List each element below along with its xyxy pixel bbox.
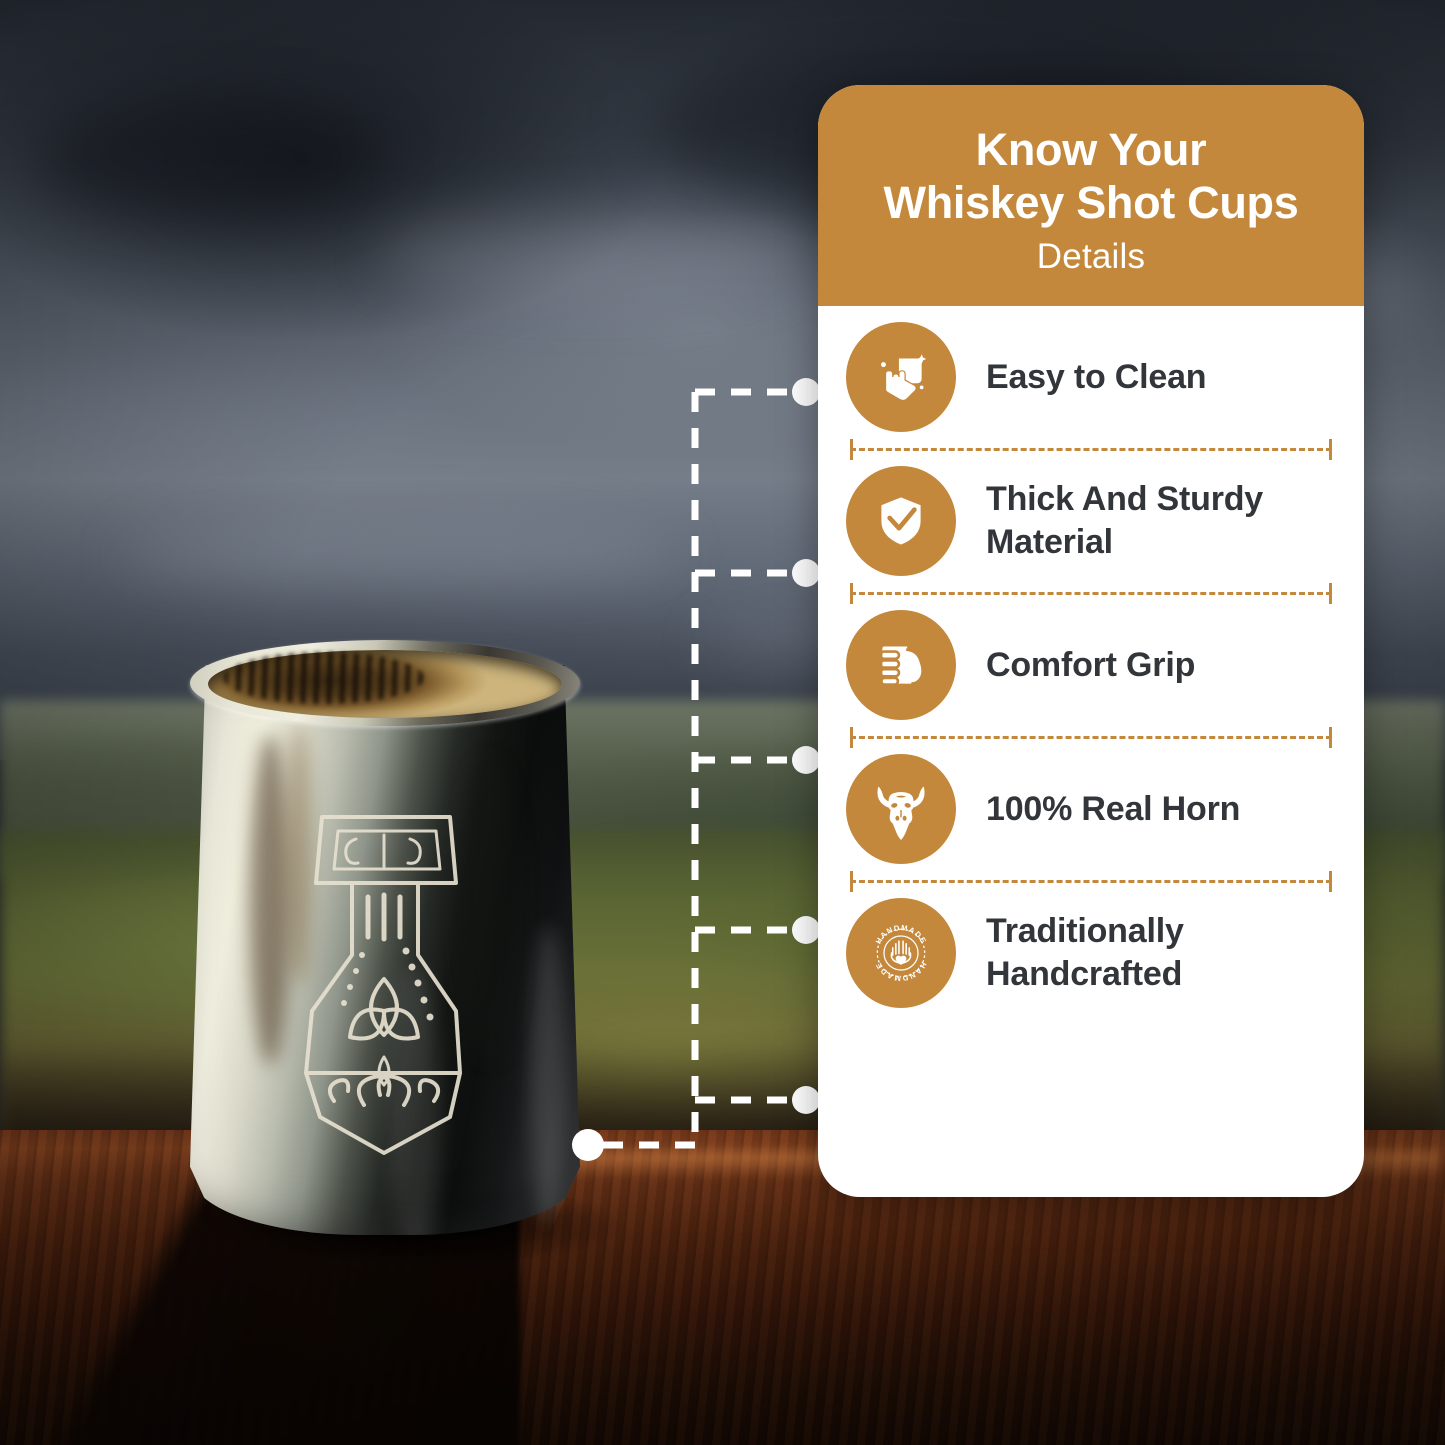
divider-cap-left xyxy=(850,727,853,748)
details-card: Know Your Whiskey Shot Cups Details Easy… xyxy=(818,85,1364,1197)
feature-divider-4 xyxy=(850,880,1332,882)
feature-item-easy-to-clean[interactable]: Easy to Clean xyxy=(846,306,1336,448)
divider-cap-left xyxy=(850,871,853,892)
divider-cap-right xyxy=(1329,871,1332,892)
feature-list: Easy to Clean Thick And Sturdy Material xyxy=(818,306,1364,1024)
feature-item-comfort-grip[interactable]: Comfort Grip xyxy=(846,594,1336,736)
shield-check-icon xyxy=(846,466,956,576)
feature-item-thick-and-sturdy-material[interactable]: Thick And Sturdy Material xyxy=(846,450,1336,592)
mjolnir-engraving-icon xyxy=(260,805,510,1165)
handmade-badge-icon: HANDMADE HANDMADE xyxy=(846,898,956,1008)
divider-cap-right xyxy=(1329,439,1332,460)
hand-wiping-sparkle-icon xyxy=(846,322,956,432)
card-title-line1: Know Your xyxy=(884,124,1299,176)
divider-cap-left xyxy=(850,583,853,604)
divider-cap-right xyxy=(1329,583,1332,604)
feature-label: Thick And Sturdy Material xyxy=(986,478,1336,564)
divider-cap-left xyxy=(850,439,853,460)
feature-label: Comfort Grip xyxy=(986,644,1195,687)
feature-label: Easy to Clean xyxy=(986,356,1206,399)
horn-shot-cup xyxy=(172,620,597,1245)
hand-gripping-cup-icon xyxy=(846,610,956,720)
card-subtitle: Details xyxy=(1037,237,1145,277)
horn-highlight-2 xyxy=(530,925,566,1225)
card-header: Know Your Whiskey Shot Cups Details xyxy=(818,85,1364,306)
divider-cap-right xyxy=(1329,727,1332,748)
page-title: Know Your Whiskey Shot Cups xyxy=(884,124,1299,228)
feature-item-real-horn[interactable]: 100% Real Horn xyxy=(846,738,1336,880)
feature-divider-3 xyxy=(850,736,1332,738)
feature-divider-1 xyxy=(850,448,1332,450)
feature-label: 100% Real Horn xyxy=(986,788,1240,831)
cup-interior-streaks xyxy=(224,652,424,704)
feature-item-traditionally-handcrafted[interactable]: HANDMADE HANDMADE xyxy=(846,882,1336,1024)
feature-label: Traditionally Handcrafted xyxy=(986,910,1336,996)
card-title-line2: Whiskey Shot Cups xyxy=(884,177,1299,229)
feature-divider-2 xyxy=(850,592,1332,594)
bull-head-icon xyxy=(846,754,956,864)
